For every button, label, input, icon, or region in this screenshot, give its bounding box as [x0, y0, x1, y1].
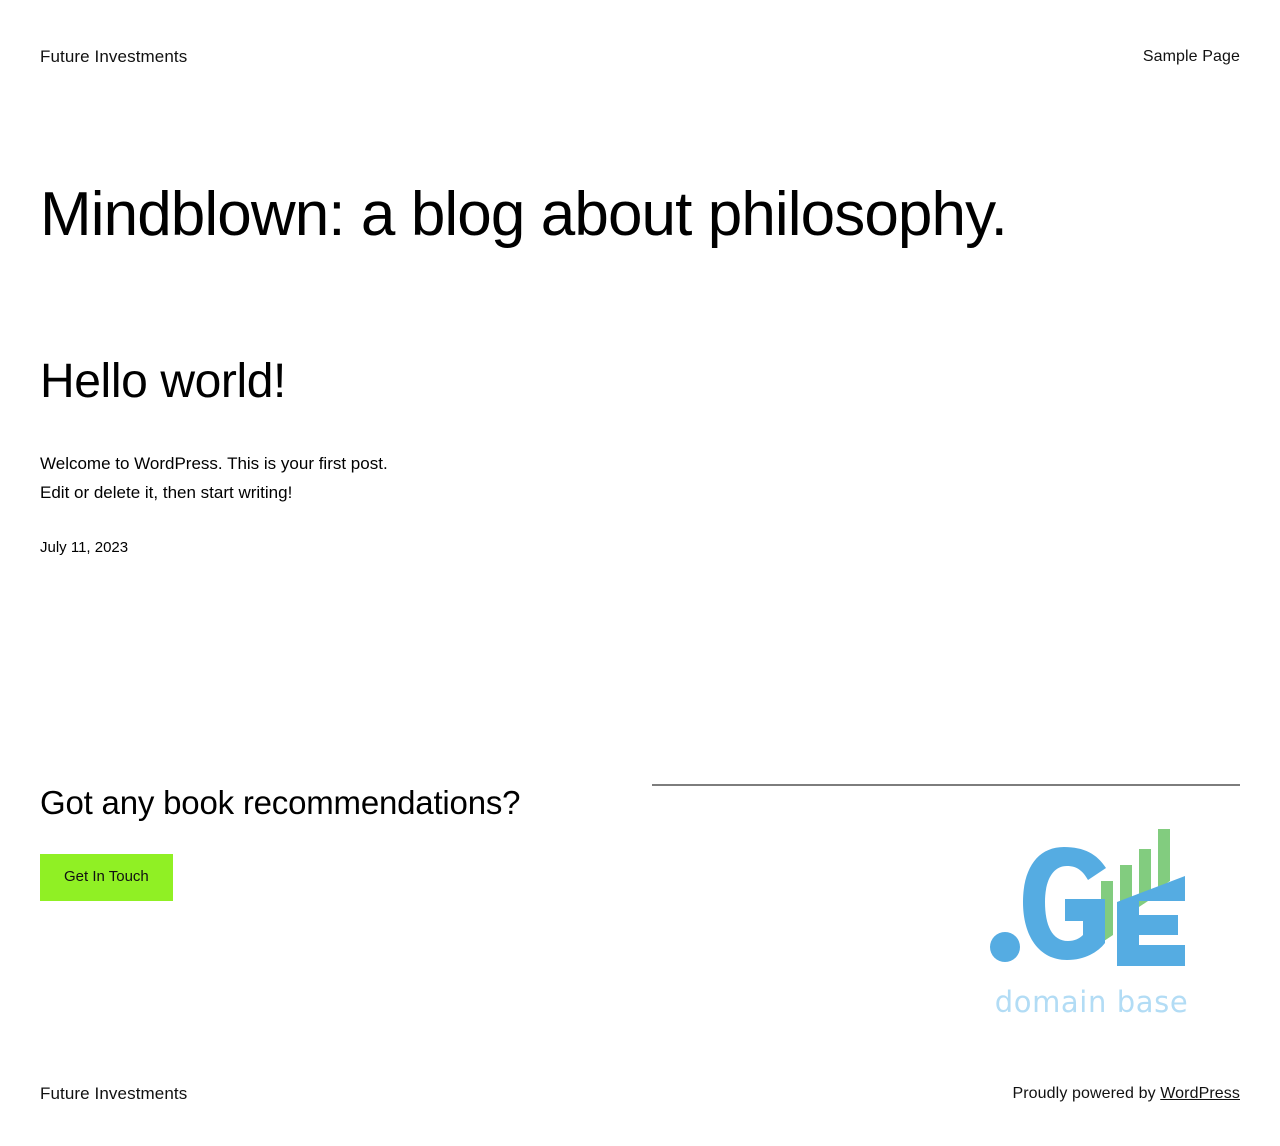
post-item: Hello world! Welcome to WordPress. This … [40, 354, 1240, 559]
logo-caption: domain base [989, 985, 1194, 1019]
ge-domain-base-logo: domain base [989, 823, 1194, 1019]
dot-icon [990, 932, 1020, 962]
footer-credit: Proudly powered by WordPress [1012, 1085, 1240, 1103]
page-title: Mindblown: a blog about philosophy. [40, 180, 1240, 249]
post-date: July 11, 2023 [40, 537, 1240, 560]
site-title-link[interactable]: Future Investments [40, 46, 187, 69]
get-in-touch-button[interactable]: Get In Touch [40, 854, 173, 901]
hero-section: Mindblown: a blog about philosophy. [40, 180, 1240, 249]
cta-heading: Got any book recommendations? [40, 783, 652, 823]
logo-wrapper: domain base [652, 786, 1240, 1019]
post-title[interactable]: Hello world! [40, 354, 1240, 409]
ge-wordmark-icon [989, 823, 1194, 983]
post-excerpt: Welcome to WordPress. This is your first… [40, 449, 1240, 507]
page-root: Future Investments Sample Page Mindblown… [0, 0, 1280, 1146]
post-excerpt-line-2: Edit or delete it, then start writing! [40, 478, 1240, 507]
media-block: domain base [652, 770, 1240, 1019]
site-header: Future Investments Sample Page [40, 0, 1240, 72]
lower-section: Got any book recommendations? Get In Tou… [40, 770, 1240, 1019]
primary-navigation: Sample Page [1143, 48, 1240, 66]
site-footer: Future Investments Proudly powered by Wo… [40, 1084, 1240, 1104]
post-excerpt-line-1: Welcome to WordPress. This is your first… [40, 449, 1240, 478]
wordpress-link[interactable]: WordPress [1160, 1085, 1240, 1102]
cta-block: Got any book recommendations? Get In Tou… [40, 770, 652, 901]
nav-link-sample-page[interactable]: Sample Page [1143, 48, 1240, 66]
footer-site-title-link[interactable]: Future Investments [40, 1084, 187, 1104]
footer-credit-prefix: Proudly powered by [1012, 1085, 1160, 1102]
